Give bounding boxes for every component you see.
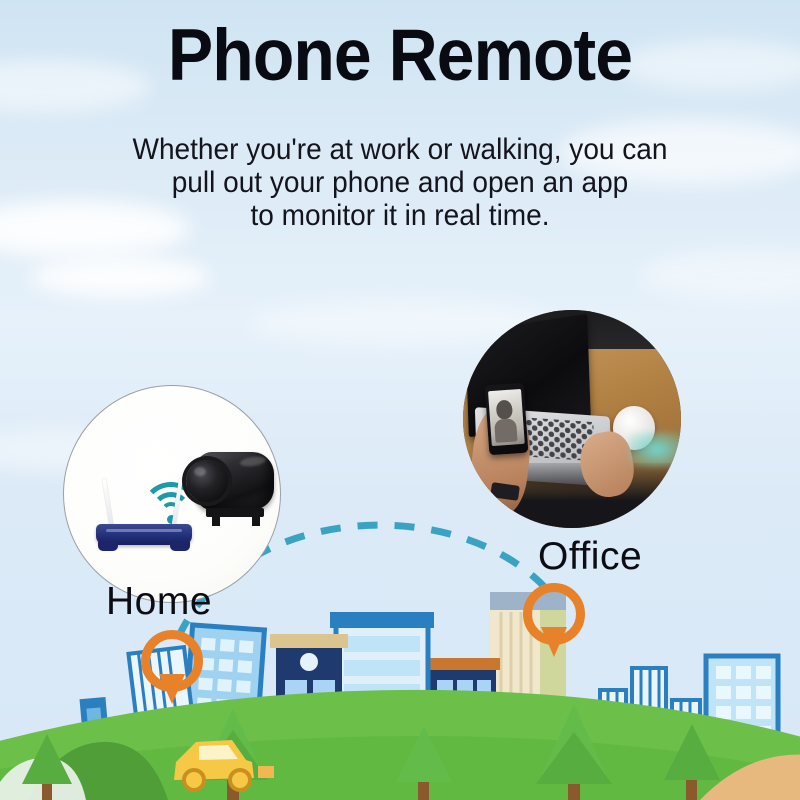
photo-phone-screen <box>488 389 526 447</box>
poster-canvas: Phone Remote Whether you're at work or w… <box>0 0 800 800</box>
map-pin-home[interactable] <box>141 630 203 712</box>
cloud-decoration <box>30 256 210 298</box>
office-photo <box>463 310 681 528</box>
subtitle-line-1: Whether you're at work or walking, you c… <box>20 133 780 166</box>
mini-camera-icon <box>182 438 281 538</box>
roadside-marker <box>258 766 274 778</box>
location-label-home: Home <box>106 580 212 624</box>
cloud-decoration <box>640 250 800 300</box>
camera-leg-right <box>252 516 260 526</box>
camera-lens <box>186 460 228 502</box>
wifi-router-icon <box>92 464 196 556</box>
camera-leg-left <box>212 516 220 526</box>
home-device-badge <box>63 385 281 603</box>
router-foot-right <box>170 542 190 551</box>
location-label-office: Office <box>538 535 642 579</box>
office-scene-badge <box>463 310 681 528</box>
router-foot-left <box>98 542 118 551</box>
pin-ring <box>523 583 585 645</box>
subtitle-line-2: pull out your phone and open an app <box>20 166 780 199</box>
map-pin-office[interactable] <box>523 583 585 665</box>
pin-ring <box>141 630 203 692</box>
photo-teal-highlight <box>629 432 681 467</box>
page-title: Phone Remote <box>28 14 772 97</box>
photo-smartphone <box>485 383 529 455</box>
router-antenna-left <box>102 478 114 530</box>
page-subtitle: Whether you're at work or walking, you c… <box>20 133 780 232</box>
subtitle-line-3: to monitor it in real time. <box>20 199 780 232</box>
